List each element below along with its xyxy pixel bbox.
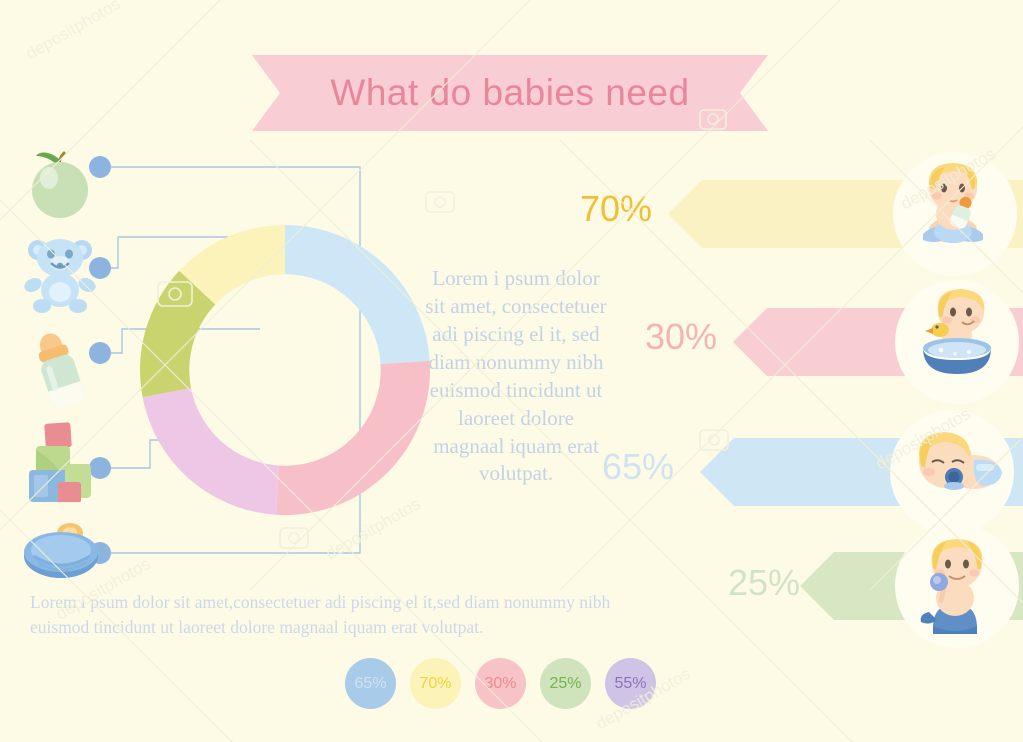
baby-feeding-bottle-illustration — [905, 158, 1001, 259]
baby-sleeping-illustration — [902, 416, 1010, 503]
apple-icon-glyph — [22, 142, 98, 222]
donut-chart-svg — [140, 225, 430, 515]
banner-percent-label: 30% — [645, 316, 717, 358]
footer-description-text: Lorem i psum dolor sit amet,consectetuer… — [30, 590, 655, 641]
building-blocks-icon-glyph — [20, 420, 100, 502]
legend-item-25[interactable]: 25% — [540, 658, 591, 709]
building-blocks-icon[interactable] — [20, 420, 100, 507]
teddy-bear-icon-glyph — [20, 232, 102, 314]
center-description-text: Lorem i psum dolor sit amet, consectetue… — [420, 265, 612, 488]
legend: 65%70%30%25%55% — [345, 658, 665, 713]
legend-item-55[interactable]: 55% — [605, 658, 656, 709]
donut-segment[interactable] — [143, 388, 279, 515]
banner-percent-label: 70% — [580, 188, 652, 230]
baby-bottle-icon-glyph — [24, 330, 96, 416]
apple-icon[interactable] — [22, 142, 98, 227]
baby-bottle-icon[interactable] — [24, 330, 96, 421]
donut-chart[interactable] — [140, 225, 430, 515]
baby-bath-icon[interactable] — [22, 520, 102, 589]
legend-item-30[interactable]: 30% — [475, 658, 526, 709]
donut-segment[interactable] — [285, 225, 430, 364]
banner-percent-label: 25% — [728, 562, 800, 604]
title-ribbon: What do babies need — [252, 55, 768, 131]
baby-rattle-illustration — [907, 530, 1003, 645]
baby-bathing-illustration — [907, 286, 1007, 389]
baby-bath-icon-glyph — [22, 520, 102, 584]
page-title: What do babies need — [252, 55, 768, 131]
infographic-canvas: What do babies need — [0, 0, 1023, 742]
teddy-bear-icon[interactable] — [20, 232, 102, 319]
donut-segment[interactable] — [276, 361, 430, 515]
legend-item-65[interactable]: 65% — [345, 658, 396, 709]
legend-item-70[interactable]: 70% — [410, 658, 461, 709]
banner-percent-label: 65% — [602, 446, 674, 488]
